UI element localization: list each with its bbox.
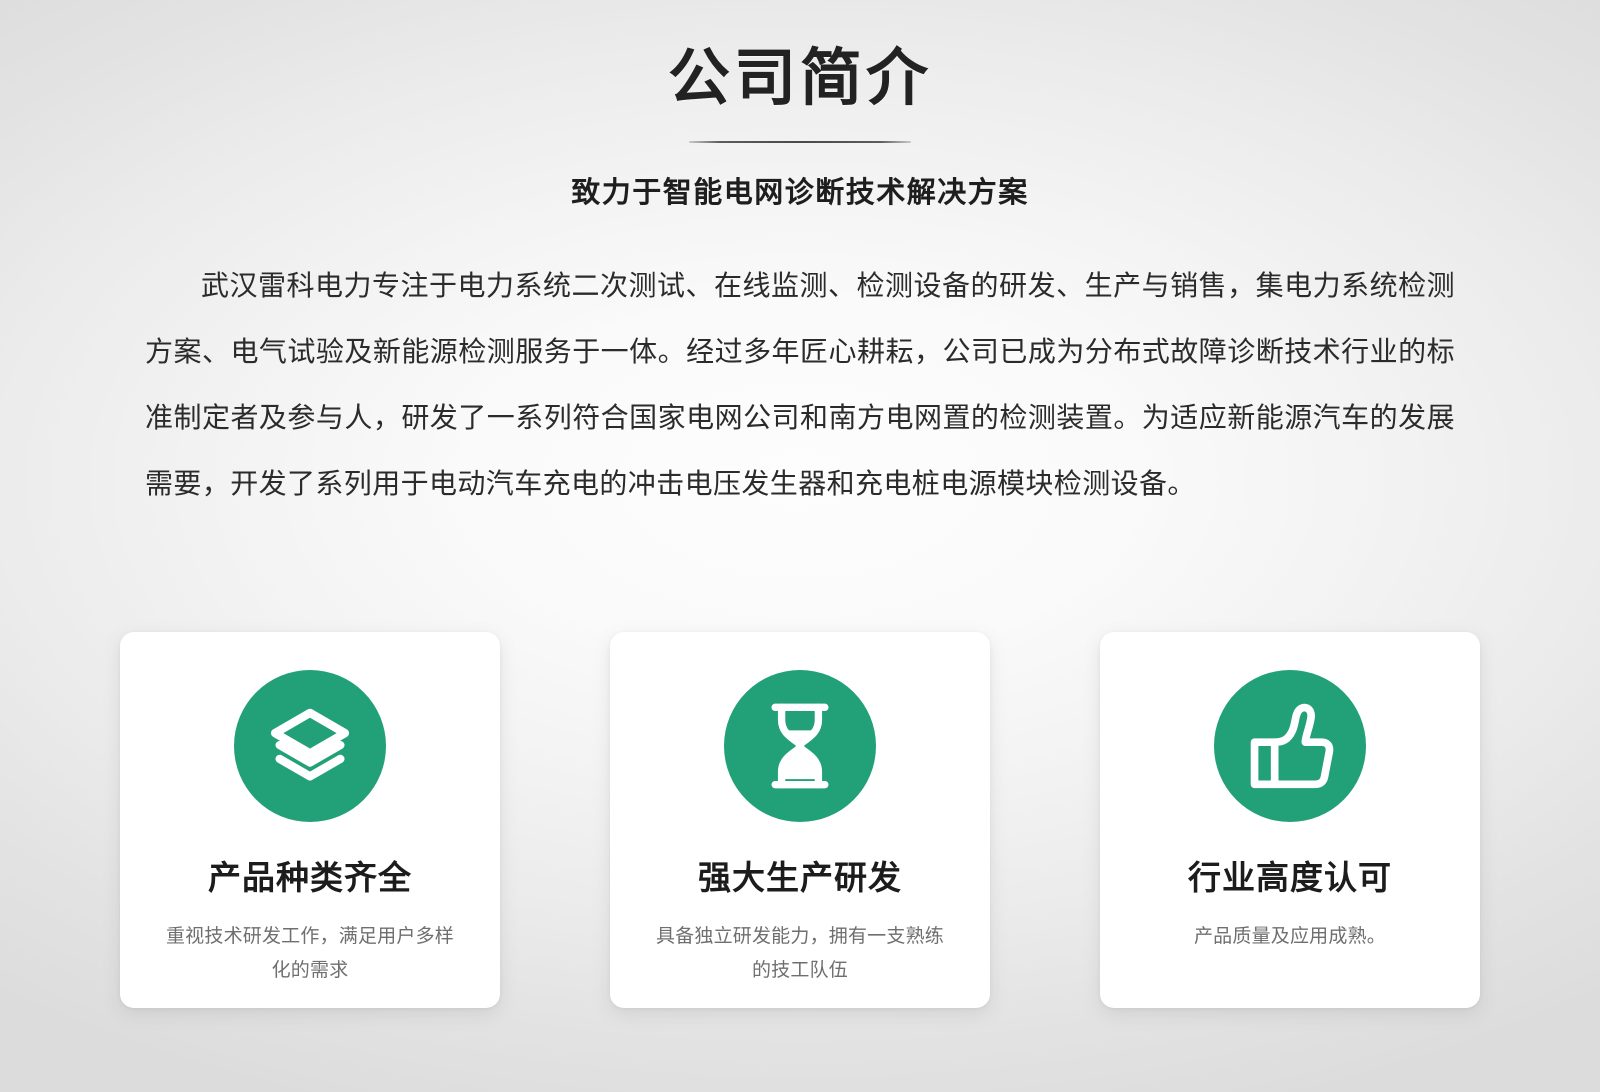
thumbs-up-icon [1242, 700, 1338, 792]
feature-card-rnd-capability[interactable]: 强大生产研发 具备独立研发能力，拥有一支熟练的技工队伍 [610, 632, 990, 1008]
feature-card-title: 行业高度认可 [1188, 858, 1392, 898]
page-header: 公司简介 致力于智能电网诊断技术解决方案 [0, 0, 1600, 211]
feature-card-title: 产品种类齐全 [208, 858, 412, 898]
feature-card-list: 产品种类齐全 重视技术研发工作，满足用户多样化的需求 [120, 632, 1480, 1008]
icon-badge [724, 670, 876, 822]
page-title: 公司简介 [0, 44, 1600, 113]
feature-card-industry-recognition[interactable]: 行业高度认可 产品质量及应用成熟。 [1100, 632, 1480, 1008]
feature-card-description: 重视技术研发工作，满足用户多样化的需求 [160, 920, 460, 988]
feature-card-description: 产品质量及应用成熟。 [1140, 920, 1440, 954]
feature-card-description: 具备独立研发能力，拥有一支熟练的技工队伍 [650, 920, 950, 988]
feature-card-product-variety[interactable]: 产品种类齐全 重视技术研发工作，满足用户多样化的需求 [120, 632, 500, 1008]
icon-badge [1214, 670, 1366, 822]
layers-icon [264, 700, 356, 792]
page-subtitle: 致力于智能电网诊断技术解决方案 [0, 169, 1600, 211]
feature-card-title: 强大生产研发 [698, 858, 902, 898]
company-profile-page: 公司简介 致力于智能电网诊断技术解决方案 武汉雷科电力专注于电力系统二次测试、在… [0, 0, 1600, 1092]
icon-badge [234, 670, 386, 822]
title-divider [689, 141, 911, 143]
hourglass-icon [756, 700, 844, 792]
company-intro-paragraph: 武汉雷科电力专注于电力系统二次测试、在线监测、检测设备的研发、生产与销售，集电力… [145, 253, 1455, 517]
